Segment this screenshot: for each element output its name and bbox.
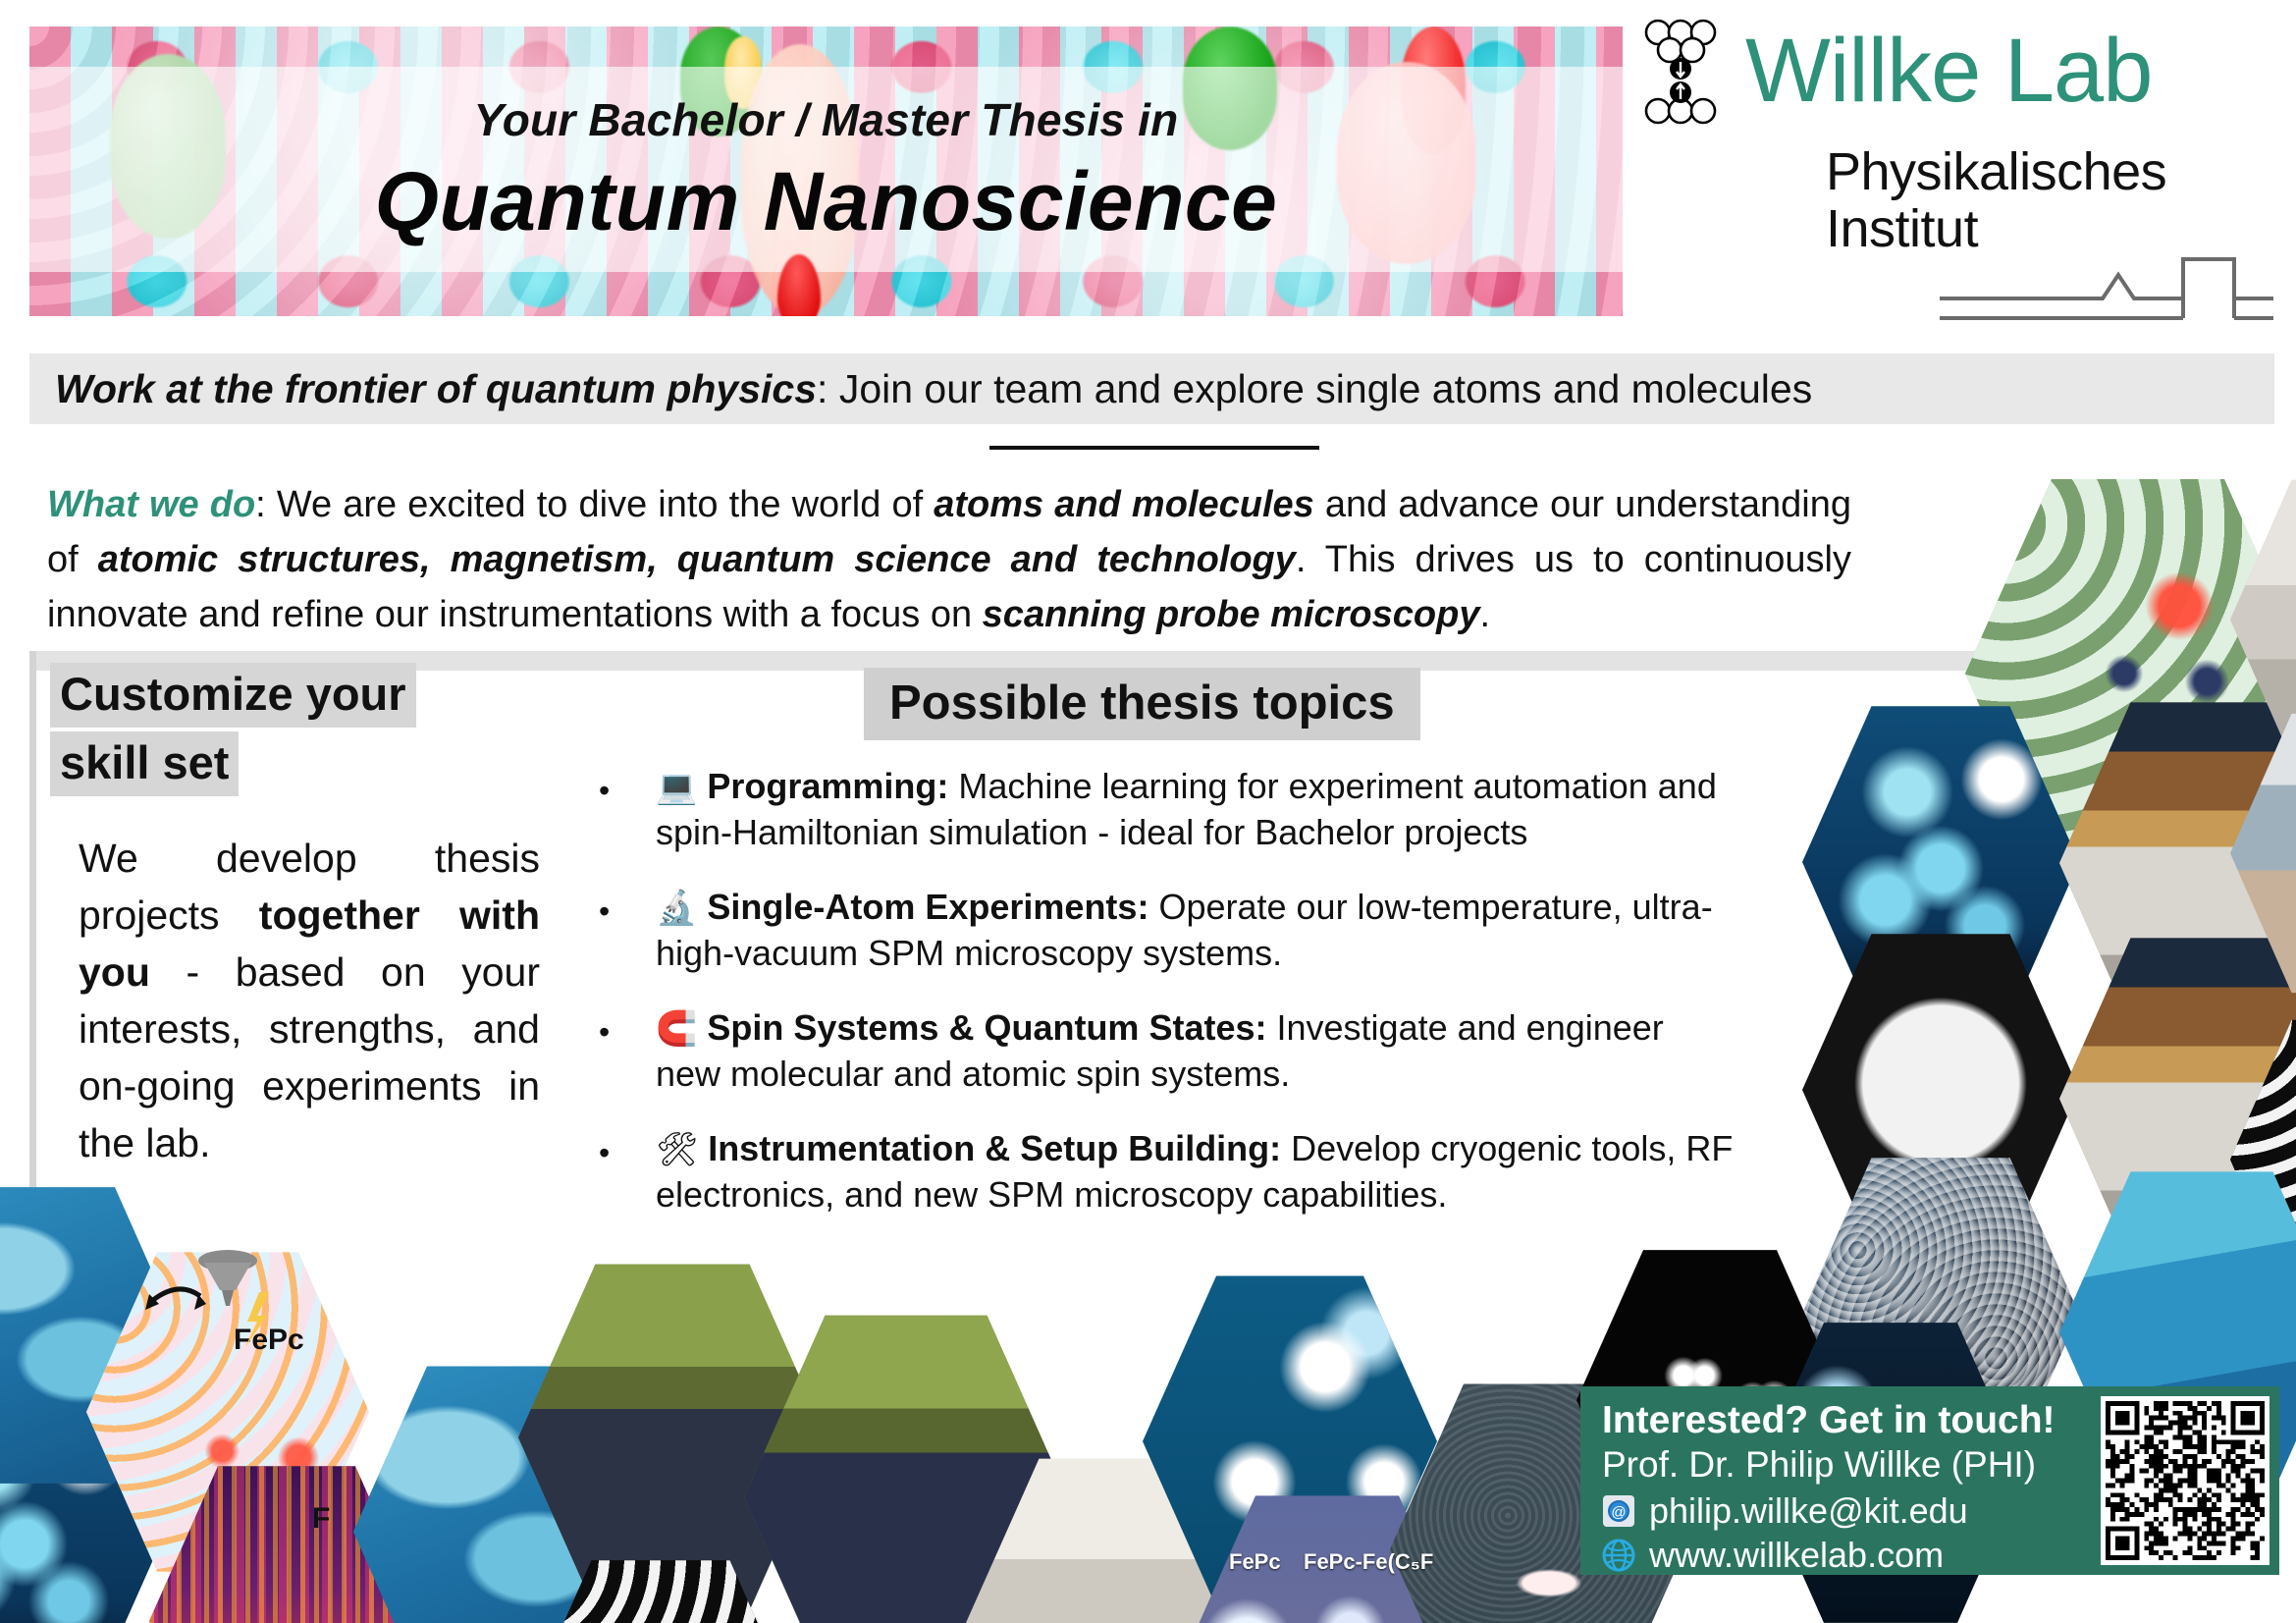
hex-image-fepc-schematic [86,1249,369,1575]
bullet-glyph: • [599,768,610,813]
topics-heading: Possible thesis topics [864,668,1420,740]
hex-image-lab-right-edge [2230,477,2296,762]
svg-text:@: @ [1611,1504,1626,1521]
topic-item-single-atom: • 🔬 Single-Atom Experiments: Operate our… [599,885,1737,976]
topic-item-instrumentation: • 🛠 Instrumentation & Setup Building: De… [599,1126,1737,1217]
hex-image-grey-island [1802,931,2079,1249]
skills-heading-line1: Customize your [50,663,416,728]
contact-email-row[interactable]: @ philip.willke@kit.edu [1602,1490,2101,1532]
bullet-glyph: • [599,1009,610,1055]
at-sign-icon: @ [1602,1494,1635,1528]
section-divider-rule [989,446,1319,450]
tools-icon: 🛠 [656,1131,698,1168]
microscope-icon: 🔬 [656,890,697,927]
headline-text: Work at the frontier of quantum physics:… [55,366,1812,412]
hex-image-cryostat-bottom [2059,935,2296,1263]
hex-image-atomic-lattice-bw [2230,1017,2296,1302]
hex-image-equipment-rack [2230,711,2296,996]
topics-list: • 💻 Programming: Machine learning for ex… [599,764,1737,1217]
hex-image-atoms-bw-bottom [522,1557,799,1623]
hex-image-blue-terrace-left [353,1363,648,1623]
banner-title: Quantum Nanoscience [375,154,1278,249]
poster-root: Your Bachelor / Master Thesis in Quantum… [0,0,2296,1623]
what-we-do-b1: atoms and molecules [934,484,1314,525]
topic-item-programming: • 💻 Programming: Machine learning for ex… [599,764,1737,855]
hex-image-molecule-render [1965,475,2296,872]
banner-text-block: Your Bachelor / Master Thesis in Quantum… [29,27,1623,316]
willke-lab-logo: Willke Lab Physikalisches Institut [1641,10,2269,314]
hex-image-heatmap [149,1463,424,1623]
hex-image-group-photo-left [518,1261,827,1614]
what-we-do-p1: : We are excited to dive into the world … [255,484,934,525]
skills-heading-line2: skill set [50,731,239,796]
banner-subtitle: Your Bachelor / Master Thesis in [474,93,1179,146]
hex-label-fepc-plain: FePc [1229,1549,1281,1575]
hex-label-fepc-complex: FePc-Fe(C₅F [1304,1549,1433,1575]
what-we-do-paragraph: What we do: We are excited to dive into … [47,477,1851,642]
left-column-rule [29,651,36,1372]
headline-bar: Work at the frontier of quantum physics:… [29,353,2274,424]
what-we-do-p5: . [1479,594,1490,635]
hex-image-uhv-chamber [958,1455,1282,1623]
hex-image-stm-blue-left [0,1379,163,1623]
contact-email[interactable]: philip.willke@kit.edu [1649,1490,1968,1532]
skills-body-text: We develop thesis projects together with… [79,830,540,1171]
topic-lead-spin-systems: Spin Systems & Quantum States: [707,1007,1266,1048]
contact-website[interactable]: www.willkelab.com [1649,1535,1944,1576]
what-we-do-b3: and technology [1011,539,1296,580]
contact-title: Interested? Get in touch! [1602,1398,2101,1442]
magnet-icon: 🧲 [656,1010,697,1048]
headline-bold: Work at the frontier of quantum physics [55,366,817,411]
globe-icon [1602,1539,1635,1572]
logo-lab-name: Willke Lab [1745,28,2152,114]
stm-tip-icon [137,1249,304,1367]
pulse-waveform-icon [1940,253,2273,322]
logo-institute: Physikalisches Institut [1826,143,2166,258]
hex-image-fepc-comparison [1184,1492,1470,1623]
hex-image-molecule-stm [1143,1272,1437,1610]
what-we-do-b2: atomic structures, magnetism, quantum sc… [98,539,991,580]
headline-rest: : Join our team and explore single atoms… [817,366,1812,411]
bullet-glyph: • [599,889,610,934]
topic-lead-instrumentation: Instrumentation & Setup Building: [708,1128,1281,1168]
atom-cluster-icon [1641,18,1732,126]
bullet-glyph: • [599,1130,610,1175]
what-we-do-label: What we do [47,484,255,525]
logo-institute-line2: Institut [1826,200,2166,257]
contact-box: Interested? Get in touch! Prof. Dr. Phil… [1580,1386,2279,1575]
topic-item-spin-systems: • 🧲 Spin Systems & Quantum States: Inves… [599,1005,1737,1097]
what-we-do-b4: scanning probe microscopy [983,594,1480,635]
laptop-icon: 💻 [656,769,697,806]
logo-institute-line1: Physikalisches [1826,143,2166,200]
contact-name: Prof. Dr. Philip Willke (PHI) [1602,1443,2101,1487]
skills-heading: Customize your skill set [36,651,470,806]
what-we-do-p3 [991,539,1011,580]
topic-lead-programming: Programming: [707,766,948,806]
qr-code[interactable] [2101,1396,2269,1565]
header-banner: Your Bachelor / Master Thesis in Quantum… [29,27,1623,316]
hex-image-group-photo-right [744,1312,1068,1623]
hex-image-blue-flat-left [0,1184,181,1487]
hex-label-fepc-schematic: FePc [234,1324,304,1357]
hex-image-stm-blue-molecules [1802,703,2079,1021]
hex-image-cryostat-top [2059,699,2296,1027]
topic-lead-single-atom: Single-Atom Experiments: [707,887,1148,927]
contact-website-row[interactable]: www.willkelab.com [1602,1535,2101,1576]
hex-label-fepc-f: F [312,1502,330,1536]
